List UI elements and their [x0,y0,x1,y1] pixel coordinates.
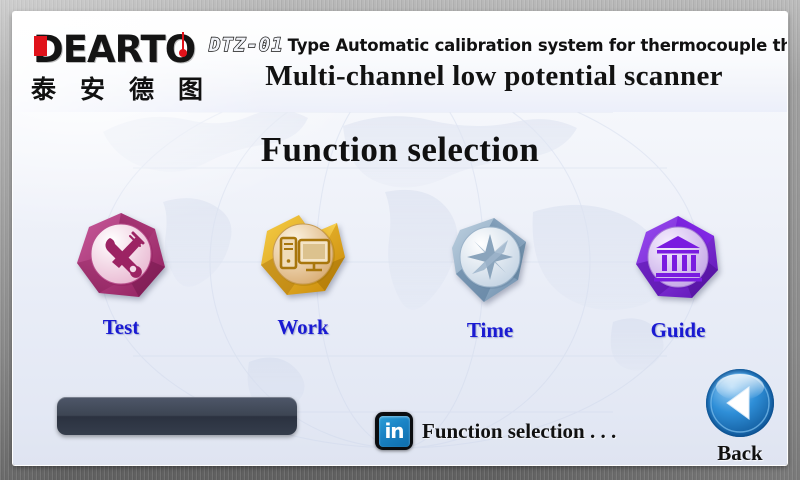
header-product-title: Multi-channel low potential scanner [209,60,779,93]
lcd-screen: DEARTO 泰 安 德 图 DTZ-01Type Automatic cali… [13,12,787,465]
header-bar: DEARTO 泰 安 德 图 DTZ-01Type Automatic cali… [13,12,787,112]
status-display-panel[interactable] [57,397,297,435]
model-number: DTZ-01 [209,34,284,56]
logo-cn-char-3: 德 [129,70,154,106]
thermometer-needle-icon [181,32,185,62]
logo-cn-char-4: 图 [178,70,203,106]
logo-chinese-name: 泰 安 德 图 [31,70,203,106]
guide-badge[interactable] [626,208,730,312]
status-message: in Function selection . . . [375,410,616,452]
function-button-guide[interactable]: Guide [603,208,753,343]
function-grid: Test [13,205,787,355]
back-button-label: Back [694,441,786,465]
status-text: Function selection . . . [422,419,616,444]
function-label-guide: Guide [603,318,753,343]
logo-red-accent [34,36,47,56]
function-button-test[interactable]: Test [46,205,196,340]
function-button-work[interactable]: Work [228,205,378,340]
logo-cn-char-2: 安 [80,70,105,106]
header-system-description: Type Automatic calibration system for th… [288,36,787,55]
function-button-time[interactable]: Time [415,208,565,343]
linkedin-in-letters: in [379,416,410,447]
function-label-time: Time [415,318,565,343]
linkedin-in-icon: in [375,412,413,450]
back-button-circle[interactable] [705,368,775,438]
page-title: Function selection [13,130,787,170]
test-badge[interactable] [69,205,173,309]
back-button[interactable]: Back [694,368,786,465]
function-label-test: Test [46,315,196,340]
brand-logo: DEARTO 泰 安 德 图 [31,30,206,102]
device-bezel: DEARTO 泰 安 德 图 DTZ-01Type Automatic cali… [0,0,800,480]
work-badge[interactable] [251,205,355,309]
function-label-work: Work [228,315,378,340]
header-subtitle-line: DTZ-01Type Automatic calibration system … [209,34,779,56]
time-badge[interactable] [438,208,542,312]
logo-cn-char-1: 泰 [31,70,56,106]
logo-wordmark: DEARTO [33,30,195,70]
